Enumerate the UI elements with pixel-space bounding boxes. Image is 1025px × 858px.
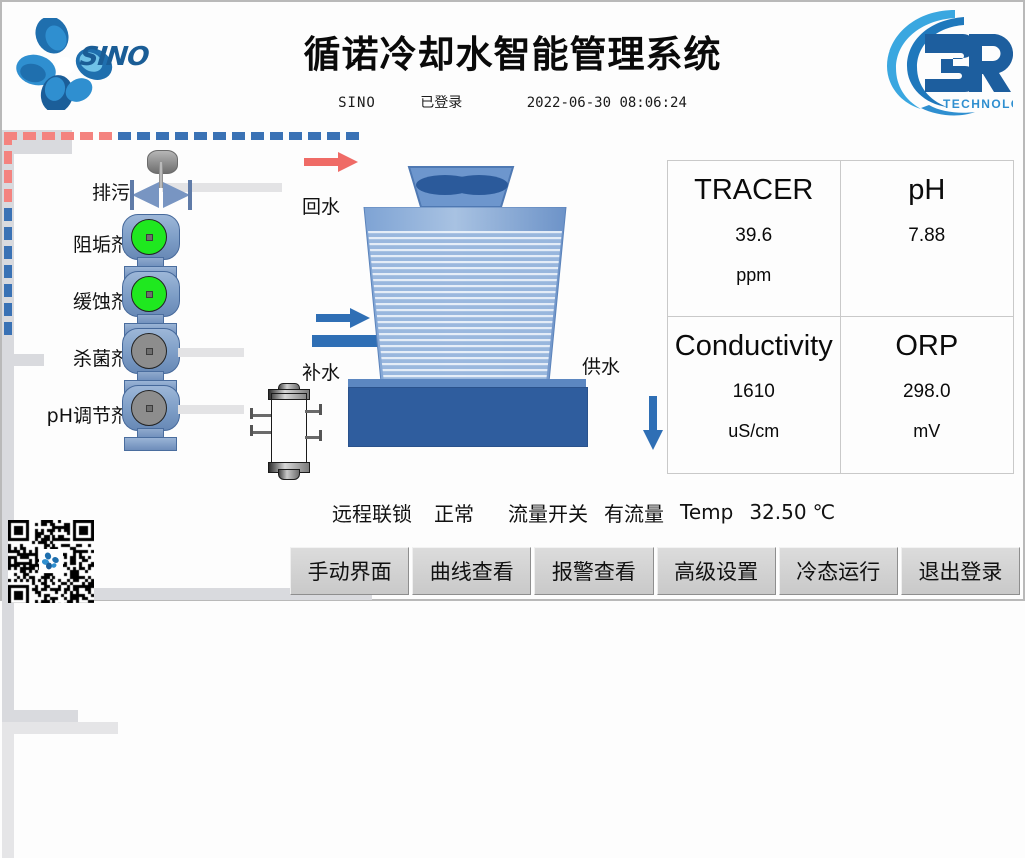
heat-exchanger-bottom-nozzle bbox=[278, 469, 300, 480]
device-label-biocide: 杀菌剂 bbox=[10, 344, 130, 371]
valve-body-left bbox=[132, 182, 159, 208]
button-logout[interactable]: 退出登录 bbox=[901, 547, 1020, 595]
cooling-tower-basin bbox=[348, 387, 588, 447]
reading-tracer-name: TRACER bbox=[694, 175, 813, 207]
button-cold-run[interactable]: 冷态运行 bbox=[779, 547, 898, 595]
reading-conductivity-name: Conductivity bbox=[675, 331, 833, 363]
flow-label-return-water: 回水 bbox=[302, 192, 340, 219]
pipe-recirculation-bottom-left bbox=[2, 600, 14, 634]
measurement-panel: TRACER 39.6 ppm pH 7.88 Conductivity 161… bbox=[667, 160, 1014, 474]
status-temp-value: 32.50 bbox=[749, 500, 806, 524]
button-advanced-settings[interactable]: 高级设置 bbox=[657, 547, 776, 595]
fan-blade-right bbox=[450, 175, 508, 195]
qr-code-center-logo bbox=[39, 549, 63, 573]
header: SINO 循诺冷却水智能管理系统 SINO 已登录 2022-06-30 08:… bbox=[2, 2, 1023, 130]
heat-exchanger-flange-right-lower bbox=[319, 430, 322, 441]
heat-exchanger-nozzle-left-upper bbox=[252, 414, 271, 417]
reading-orp-value: 298.0 bbox=[903, 381, 951, 403]
pump-shaft-dot bbox=[146, 405, 153, 412]
header-user: SINO bbox=[338, 95, 376, 111]
reading-tracer-unit: ppm bbox=[736, 265, 771, 286]
valve-body-right bbox=[163, 182, 190, 208]
reading-orp-unit: mV bbox=[913, 421, 940, 442]
reading-orp-name: ORP bbox=[895, 331, 958, 363]
heat-exchanger-flange-left-upper bbox=[250, 408, 253, 419]
reading-conductivity[interactable]: Conductivity 1610 uS/cm bbox=[668, 317, 841, 473]
flow-label-makeup-water: 补水 bbox=[302, 358, 340, 385]
3r-logo-subtext: TECHNOLOGY bbox=[943, 97, 1013, 111]
status-flow-label: 流量开关 bbox=[508, 498, 588, 527]
pipe-return-left bbox=[2, 734, 14, 812]
device-label-corrosion-inhibitor: 缓蚀剂 bbox=[10, 287, 130, 314]
header-datetime: 2022-06-30 08:06:24 bbox=[527, 95, 687, 111]
status-row: 远程联锁 正常 流量开关 有流量 Temp 32.50 ℃ bbox=[332, 496, 1022, 528]
3r-technology-logo: TECHNOLOGY bbox=[863, 4, 1013, 122]
valve-flange-right bbox=[188, 180, 192, 210]
reading-ph[interactable]: pH 7.88 bbox=[841, 161, 1014, 317]
pipe-dosing-biocide bbox=[178, 348, 244, 357]
hmi-screen: SINO 循诺冷却水智能管理系统 SINO 已登录 2022-06-30 08:… bbox=[0, 0, 1025, 601]
heat-exchanger-nozzle-left-lower bbox=[252, 431, 271, 434]
qr-code[interactable] bbox=[8, 520, 94, 603]
pump-base bbox=[124, 437, 177, 451]
arrow-supply-flow bbox=[643, 396, 663, 452]
button-alarm-view[interactable]: 报警查看 bbox=[534, 547, 653, 595]
reading-orp[interactable]: ORP 298.0 mV bbox=[841, 317, 1014, 473]
status-temp-label: Temp bbox=[680, 500, 733, 524]
reading-tracer-value: 39.6 bbox=[735, 225, 772, 247]
status-interlock-value: 正常 bbox=[434, 498, 474, 527]
pump-shaft-dot bbox=[146, 348, 153, 355]
heat-exchanger-flange-left-lower bbox=[250, 425, 253, 436]
reading-conductivity-value: 1610 bbox=[733, 381, 775, 403]
heat-exchanger-shell bbox=[271, 393, 307, 467]
pump-shaft-dot bbox=[146, 234, 153, 241]
pipe-supply-top bbox=[2, 710, 78, 722]
pipe-return-right bbox=[2, 812, 14, 858]
status-interlock-label: 远程联锁 bbox=[332, 498, 412, 527]
pipe-dosing-corrosion-inhibitor bbox=[2, 142, 72, 154]
cooling-tower[interactable] bbox=[340, 165, 640, 455]
button-bar: 手动界面 曲线查看 报警查看 高级设置 冷态运行 退出登录 bbox=[290, 547, 1020, 595]
heat-exchanger-flange-right-upper bbox=[319, 404, 322, 415]
pump-ph-adjuster[interactable] bbox=[120, 385, 180, 451]
device-label-blowdown: 排污 bbox=[20, 178, 130, 205]
valve-blowdown[interactable] bbox=[130, 150, 192, 206]
device-label-ph-adjuster: pH调节剂 bbox=[2, 401, 130, 428]
pipe-return-top bbox=[2, 722, 118, 734]
valve-flange-left bbox=[130, 180, 134, 210]
device-label-scale-inhibitor: 阻垢剂 bbox=[10, 230, 130, 257]
process-diagram: 排污 阻垢剂 缓蚀剂 杀菌剂 pH调节剂 bbox=[2, 130, 662, 480]
button-manual-interface[interactable]: 手动界面 bbox=[290, 547, 409, 595]
pipe-dosing-ph-adjuster bbox=[178, 405, 244, 414]
header-login-status: 已登录 bbox=[420, 95, 462, 111]
cooling-tower-fan-housing bbox=[397, 165, 525, 207]
button-curve-view[interactable]: 曲线查看 bbox=[412, 547, 531, 595]
reading-conductivity-unit: uS/cm bbox=[728, 421, 779, 442]
pump-shaft-dot bbox=[146, 291, 153, 298]
pipe-supply-riser bbox=[2, 634, 14, 710]
reading-tracer[interactable]: TRACER 39.6 ppm bbox=[668, 161, 841, 317]
heat-exchanger[interactable] bbox=[266, 383, 310, 475]
reading-ph-name: pH bbox=[908, 175, 945, 207]
reading-ph-value: 7.88 bbox=[908, 225, 945, 247]
status-temp-unit: ℃ bbox=[813, 500, 835, 524]
status-flow-value: 有流量 bbox=[604, 498, 664, 527]
